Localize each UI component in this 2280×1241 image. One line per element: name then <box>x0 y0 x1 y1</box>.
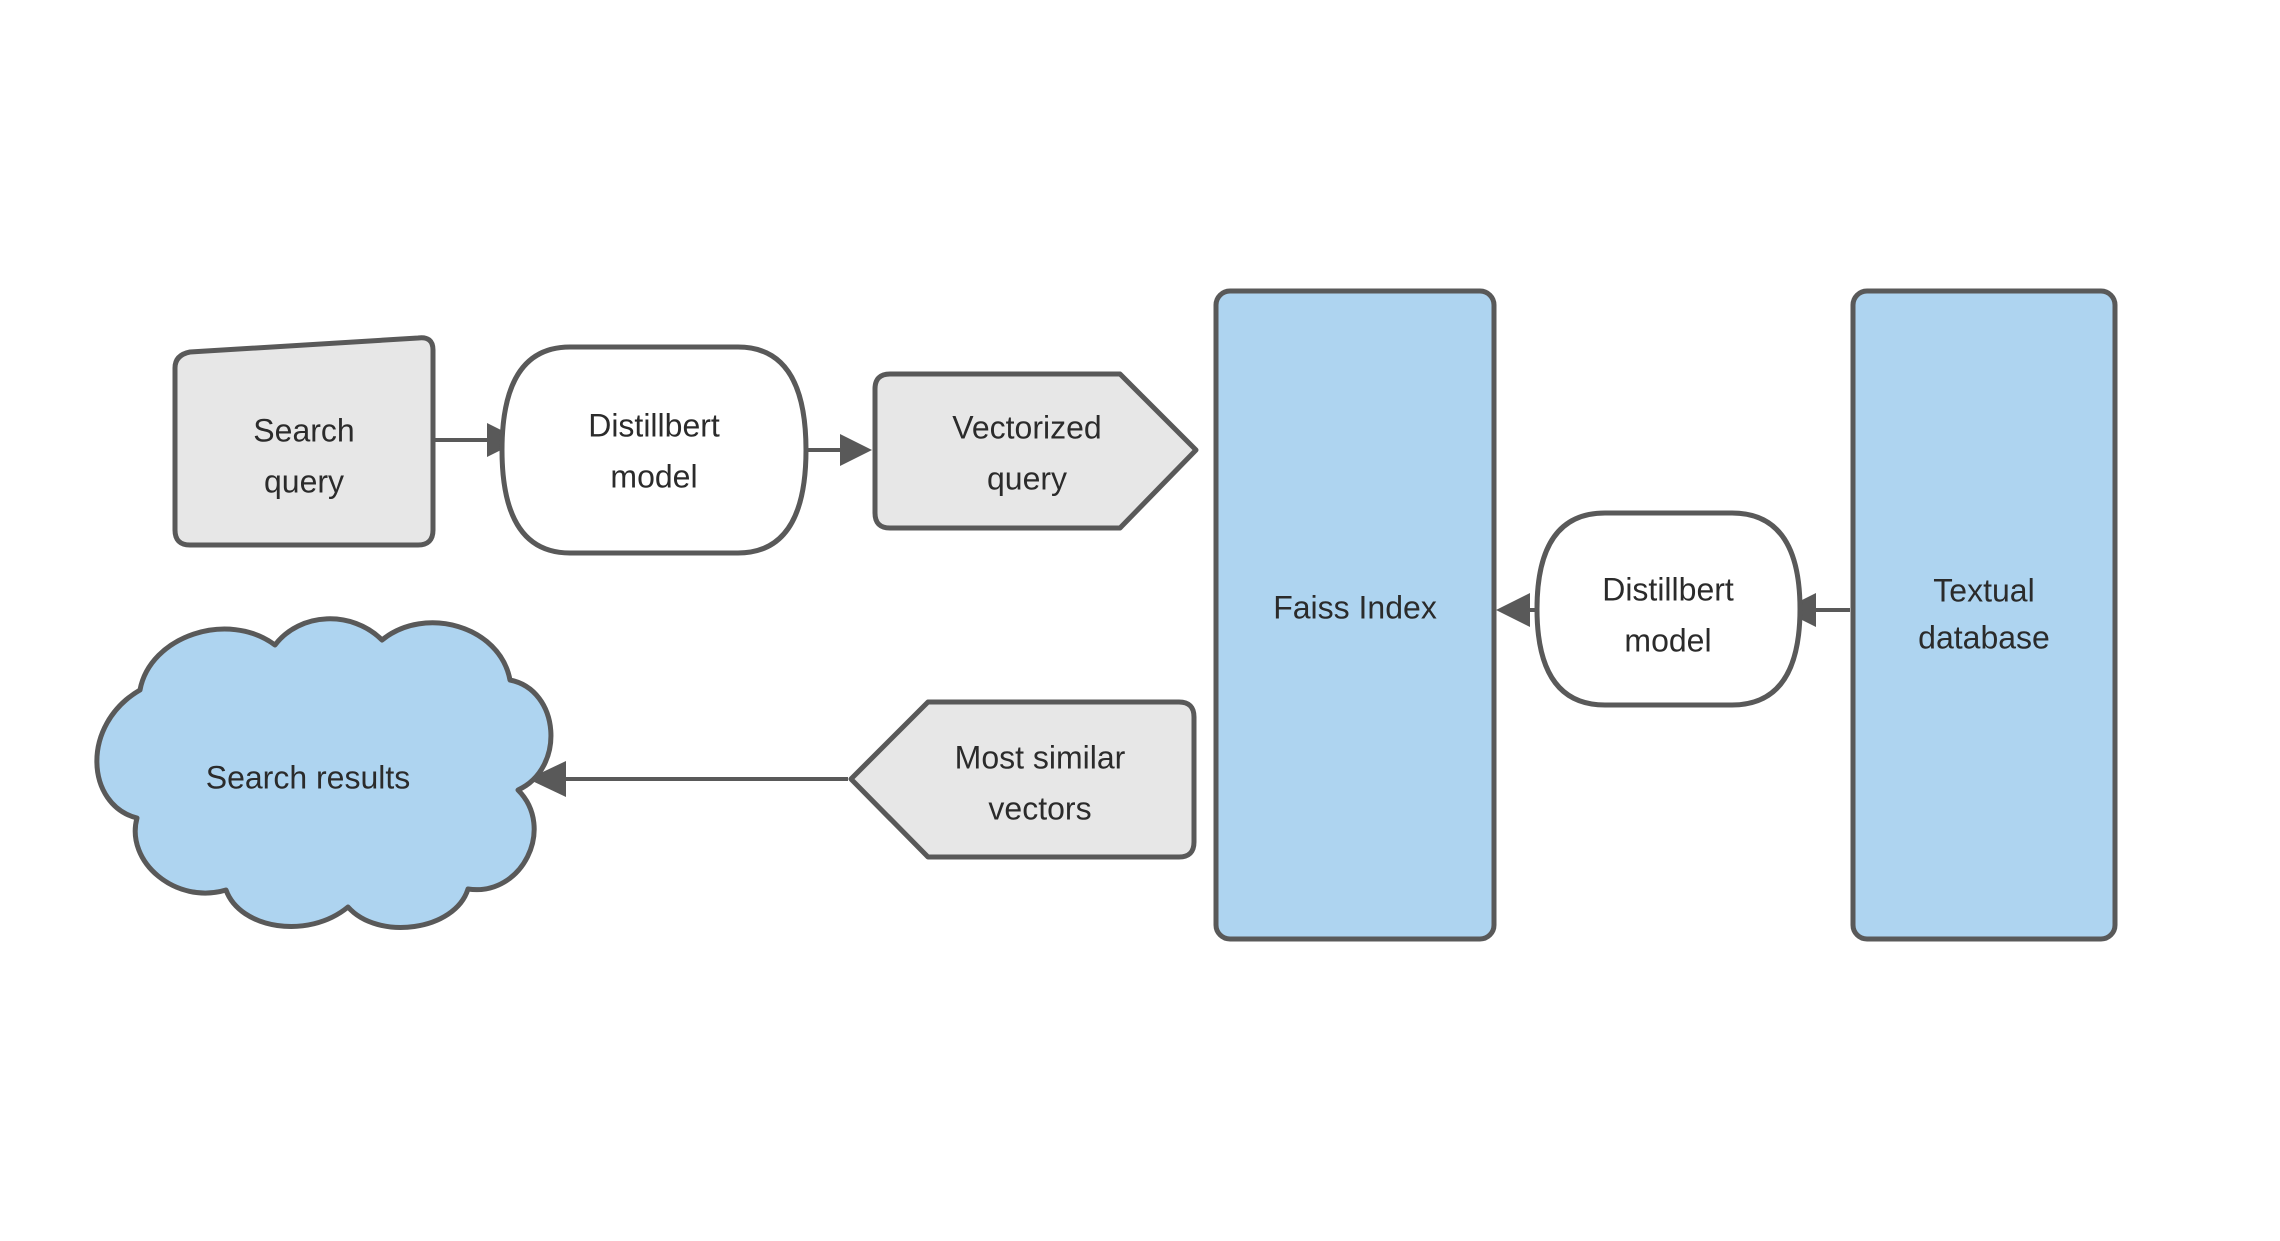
search-query-label-line2: query <box>264 463 344 499</box>
node-search-results[interactable]: Search results <box>97 619 551 928</box>
edge-vectors-to-results <box>528 761 848 797</box>
edge-model-to-vector-arrowhead <box>840 434 872 466</box>
search-query-label-line1: Search <box>253 412 354 448</box>
textual-database-label-line1: Textual <box>1933 572 2034 608</box>
most-similar-vectors-label-line1: Most similar <box>955 739 1126 775</box>
search-results-label: Search results <box>206 759 411 795</box>
node-faiss-index[interactable]: Faiss Index <box>1216 291 1494 939</box>
vectorized-query-label-line2: query <box>987 460 1067 496</box>
node-textual-database[interactable]: Textual database <box>1853 291 2115 939</box>
node-distillbert-model-query[interactable]: Distillbert model <box>502 347 806 553</box>
most-similar-vectors-shape[interactable] <box>851 702 1194 857</box>
distillbert-model-db-label-line2: model <box>1624 622 1711 658</box>
faiss-index-label: Faiss Index <box>1273 589 1437 625</box>
edge-model-to-faiss-arrowhead <box>1496 593 1530 627</box>
edge-model-to-vector <box>806 434 872 466</box>
distillbert-model-query-label-line1: Distillbert <box>588 407 720 443</box>
vectorized-query-label-line1: Vectorized <box>952 409 1101 445</box>
edge-model-to-faiss <box>1496 593 1540 627</box>
textual-database-label-line2: database <box>1918 619 2050 655</box>
diagram-canvas: Search query Distillbert model Vectorize… <box>0 0 2280 1241</box>
node-search-query[interactable]: Search query <box>175 338 433 545</box>
distillbert-model-query-label-line2: model <box>610 458 697 494</box>
node-most-similar-vectors[interactable]: Most similar vectors <box>851 702 1194 857</box>
distillbert-model-db-label-line1: Distillbert <box>1602 571 1734 607</box>
distillbert-model-db-shape[interactable] <box>1537 513 1800 705</box>
flowchart-svg: Search query Distillbert model Vectorize… <box>0 0 2280 1241</box>
textual-database-shape[interactable] <box>1853 291 2115 939</box>
node-distillbert-model-db[interactable]: Distillbert model <box>1537 513 1800 705</box>
distillbert-model-query-shape[interactable] <box>502 347 806 553</box>
node-vectorized-query[interactable]: Vectorized query <box>875 374 1196 528</box>
vectorized-query-shape[interactable] <box>875 374 1196 528</box>
most-similar-vectors-label-line2: vectors <box>988 790 1091 826</box>
